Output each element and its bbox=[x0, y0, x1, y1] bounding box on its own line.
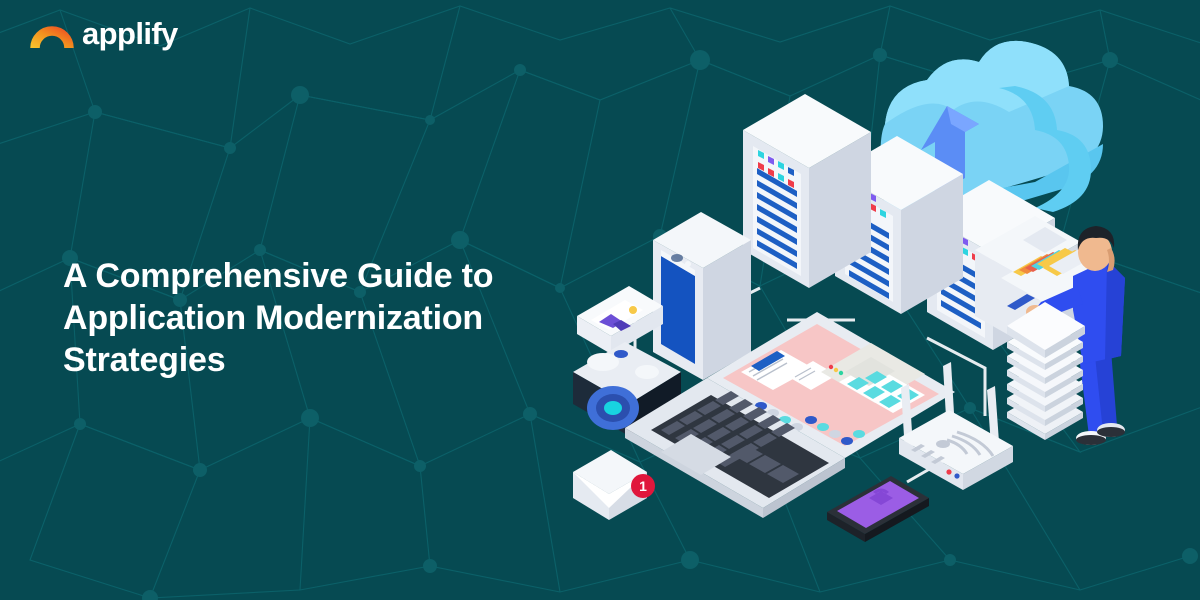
server-rack-icon bbox=[743, 94, 871, 288]
hero-illustration: 1 bbox=[555, 20, 1200, 590]
image-icon bbox=[577, 286, 663, 354]
page-title-line-2: Application Modernization bbox=[63, 297, 583, 339]
logo-wordmark: applify bbox=[82, 18, 178, 50]
arch-icon bbox=[30, 18, 74, 50]
desktop-tower-icon bbox=[653, 212, 751, 380]
notification-badge-count: 1 bbox=[639, 478, 647, 494]
page-title-line-3: Strategies bbox=[63, 339, 583, 381]
page-title: A Comprehensive Guide to Application Mod… bbox=[63, 255, 583, 381]
banner-root: applify A Comprehensive Guide to Applica… bbox=[0, 0, 1200, 600]
page-title-line-1: A Comprehensive Guide to bbox=[63, 255, 583, 297]
logo[interactable]: applify bbox=[30, 18, 178, 50]
smartphone-icon bbox=[827, 476, 929, 542]
badge-icon: 1 bbox=[631, 474, 655, 498]
